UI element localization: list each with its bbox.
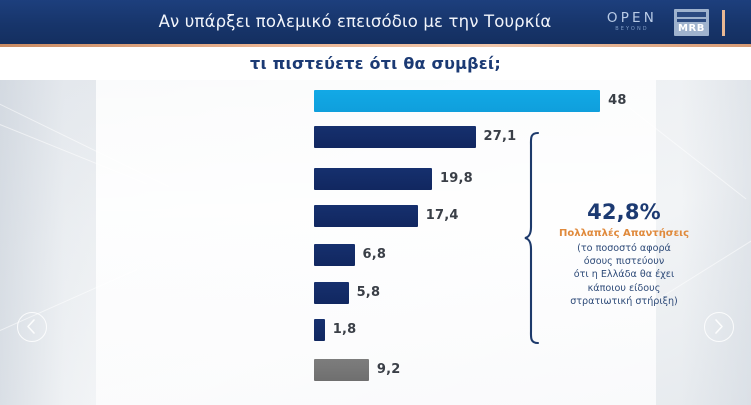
chart-canvas: Θα είμαστε μόνοι μας48Θα μας βοηθήσει στ… <box>0 80 751 405</box>
grouping-brace-icon <box>524 131 546 345</box>
chevron-left-icon <box>18 313 45 340</box>
callout-subtitle: Πολλαπλές Απαντήσεις <box>548 226 700 241</box>
callout-percent: 42,8% <box>548 200 700 224</box>
bar-value-label: 6,8 <box>363 247 387 262</box>
bar-value-label: 17,4 <box>426 208 459 223</box>
bar-value-label: 19,8 <box>440 171 473 186</box>
bar-value-label: 27,1 <box>484 129 517 144</box>
callout-note-line: (το ποσοστό αφορά <box>548 242 700 255</box>
mrb-logo-bar-bottom <box>677 19 706 22</box>
open-logo-wordmark: OPEN <box>601 12 663 25</box>
bar <box>314 90 600 112</box>
callout-note-line: όσους πιστεύουν <box>548 255 700 268</box>
bar-value-label: 9,2 <box>377 362 401 377</box>
callout-block: 42,8% Πολλαπλές Απαντήσεις (το ποσοστό α… <box>548 200 700 308</box>
callout-note: (το ποσοστό αφορά όσους πιστεύουν ότι η … <box>548 242 700 308</box>
bar <box>314 168 432 190</box>
bar <box>314 319 325 341</box>
callout-note-line: στρατιωτική στήριξη) <box>548 295 700 308</box>
bar-value-label: 5,8 <box>357 285 381 300</box>
chevron-right-icon <box>705 313 732 340</box>
left-panel-shade <box>0 80 92 405</box>
bar <box>314 205 418 227</box>
poll-slide: Αν υπάρξει πολεμικό επεισόδιο με την Του… <box>0 0 751 405</box>
page-subtitle: τι πιστεύετε ότι θα συμβεί; <box>0 54 751 73</box>
mrb-logo-wordmark: MRB <box>674 23 709 34</box>
bar <box>314 282 349 304</box>
bar <box>314 359 369 381</box>
bar-value-label: 1,8 <box>333 322 357 337</box>
bar-value-label: 48 <box>608 93 627 108</box>
callout-note-line: κάποιου είδους <box>548 282 700 295</box>
callout-note-line: ότι η Ελλάδα θα έχει <box>548 268 700 281</box>
prev-slide-button[interactable] <box>17 312 47 342</box>
page-title: Αν υπάρξει πολεμικό επεισόδιο με την Του… <box>120 12 590 31</box>
bar <box>314 126 476 148</box>
bar <box>314 244 355 266</box>
open-beyond-logo: OPEN BEYOND <box>601 12 663 36</box>
beyond-logo-wordmark: BEYOND <box>601 25 663 33</box>
mrb-logo: MRB <box>674 9 709 36</box>
next-slide-button[interactable] <box>704 312 734 342</box>
header-divider <box>722 10 725 36</box>
mrb-logo-bar-top <box>677 12 706 17</box>
